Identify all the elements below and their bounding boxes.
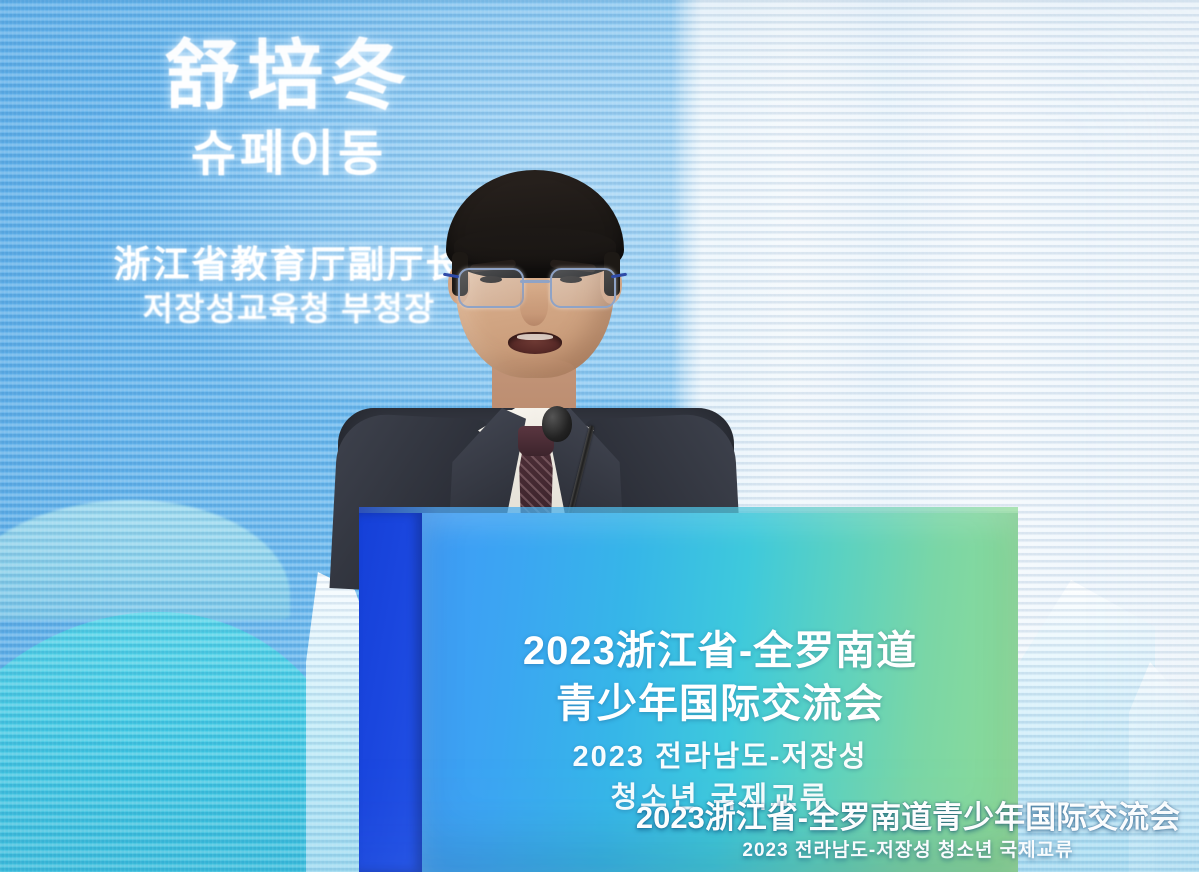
speaking-podium: 2023浙江省-全罗南道 青少年国际交流会 2023 전라남도-저장성 청소년 … [359,513,1018,872]
eyeglass-lens-left [458,268,524,308]
conference-photo-stage: 舒培冬 슈페이동 浙江省教育厅副厅长 저장성교육청 부청장 [0,0,1199,872]
eyeglass-lens-right [550,268,616,308]
podium-front-panel [422,513,1018,872]
speaker-mouth [508,332,562,354]
podium-side-panel [359,513,422,872]
microphone-head-icon [542,406,572,442]
speaker-nose [520,286,548,326]
speaker-chin [496,358,574,378]
eyeglass-bridge [520,280,550,283]
